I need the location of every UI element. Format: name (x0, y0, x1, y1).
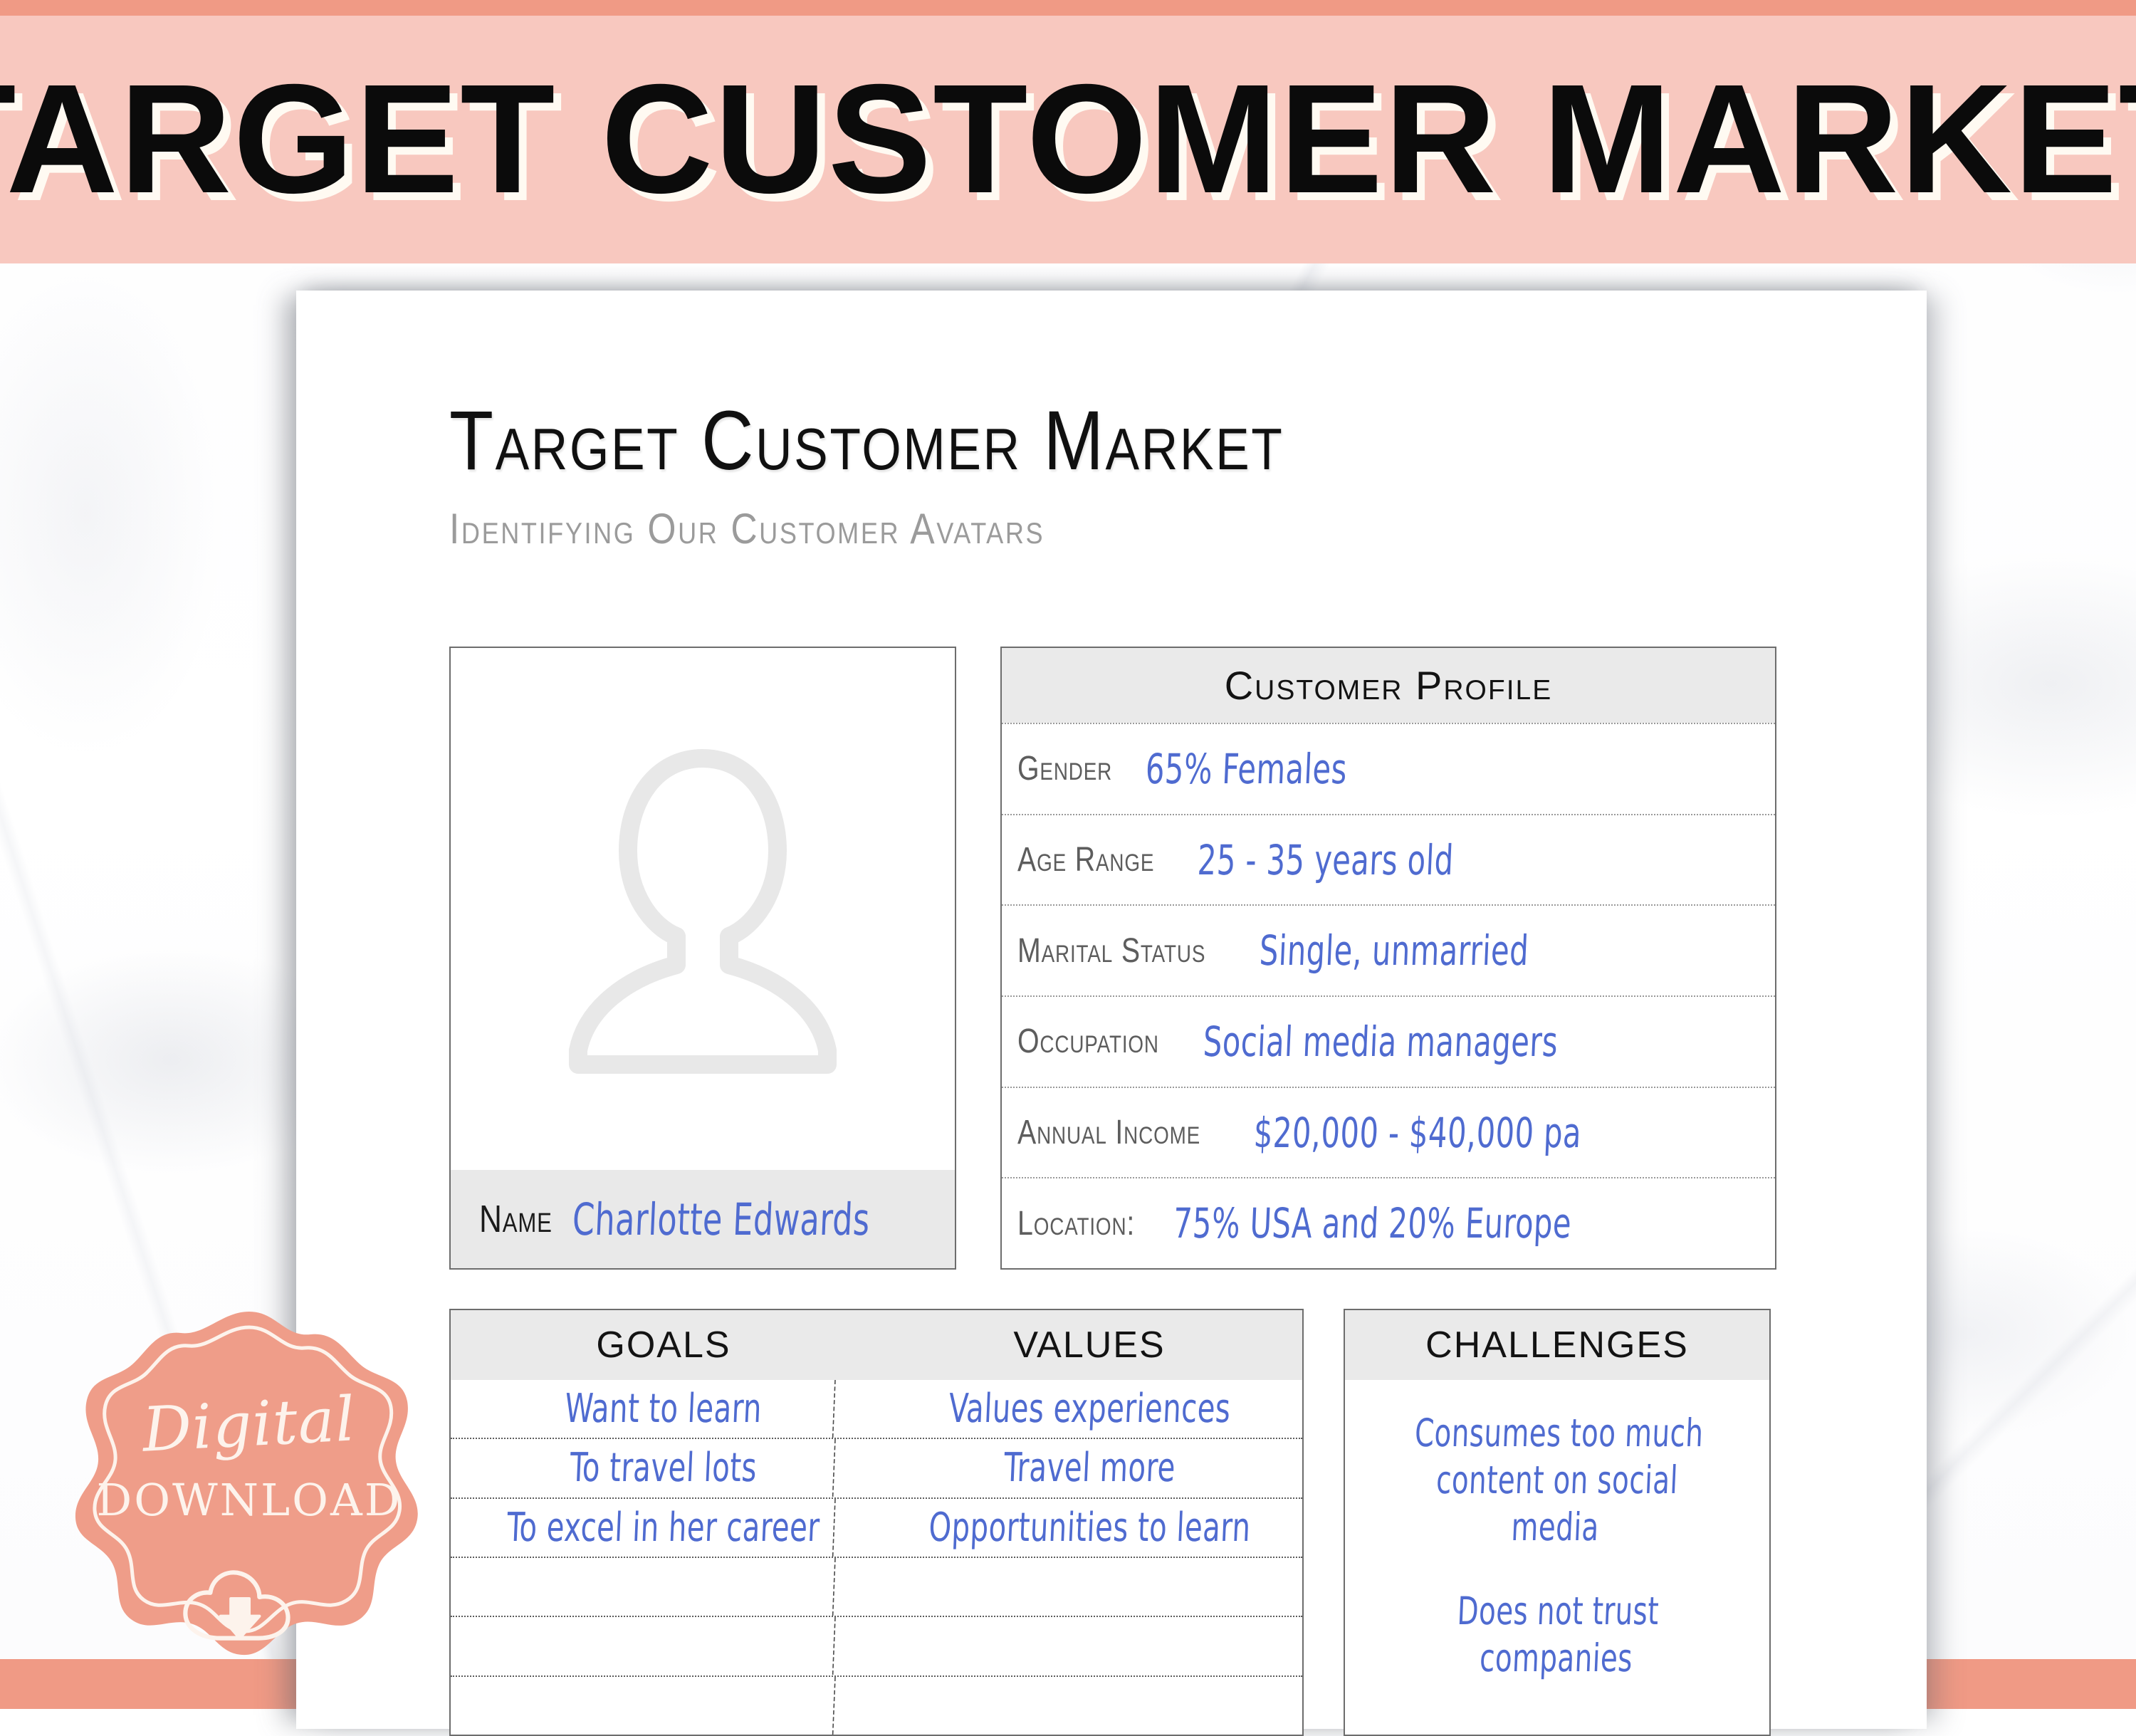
profile-section: Name Charlotte Edwards Customer Profile … (449, 647, 1776, 1270)
value-cell[interactable] (918, 1677, 1261, 1735)
profile-value-annual-income[interactable]: $20,000 - $40,000 pa (1252, 1109, 1582, 1157)
customer-profile-card: Customer Profile Gender 65% Females Age … (1000, 647, 1776, 1270)
profile-value-age-range[interactable]: 25 - 35 years old (1196, 836, 1454, 884)
goals-heading: GOALS (451, 1310, 876, 1380)
value-cell[interactable] (918, 1558, 1261, 1616)
table-row[interactable] (451, 1675, 1302, 1735)
page-subtitle: Identifying Our Customer Avatars (449, 504, 1598, 553)
top-accent-strip (0, 0, 2136, 16)
badge-word-text: DOWNLOAD (97, 1474, 402, 1526)
goal-cell[interactable] (492, 1558, 836, 1616)
goal-cell[interactable] (492, 1617, 836, 1675)
value-cell[interactable]: Opportunities to learn (918, 1499, 1261, 1557)
goals-values-card: GOALS VALUES Want to learn Values experi… (449, 1309, 1304, 1736)
person-silhouette-icon (451, 648, 955, 1171)
table-row[interactable]: Want to learn Values experiences (451, 1380, 1302, 1438)
name-field[interactable]: Name Charlotte Edwards (451, 1170, 955, 1268)
profile-row-age-range[interactable]: Age Range 25 - 35 years old (1002, 814, 1775, 905)
worksheet-page: Target Customer Market Identifying Our C… (296, 291, 1927, 1729)
table-row[interactable] (451, 1557, 1302, 1616)
goal-cell[interactable]: To travel lots (492, 1439, 836, 1497)
challenge-item[interactable]: Consumes too much content on social medi… (1399, 1410, 1714, 1551)
table-row[interactable]: To excel in her career Opportunities to … (451, 1497, 1302, 1557)
profile-row-occupation[interactable]: Occupation Social media managers (1002, 995, 1775, 1087)
goal-cell[interactable]: To excel in her career (492, 1499, 836, 1557)
page-heading-block: Target Customer Market Identifying Our C… (449, 397, 1784, 553)
value-cell[interactable]: Values experiences (918, 1380, 1261, 1438)
profile-value-occupation[interactable]: Social media managers (1202, 1018, 1559, 1066)
profile-label-location: Location: (1017, 1204, 1135, 1243)
profile-label-age-range: Age Range (1017, 840, 1154, 879)
profile-row-gender[interactable]: Gender 65% Females (1002, 723, 1775, 814)
challenges-heading: CHALLENGES (1345, 1310, 1769, 1380)
profile-row-annual-income[interactable]: Annual Income $20,000 - $40,000 pa (1002, 1087, 1775, 1178)
name-value[interactable]: Charlotte Edwards (572, 1193, 871, 1245)
banner-title: TARGET CUSTOMER MARKET (0, 62, 2136, 217)
challenge-item[interactable]: Does not trust companies (1401, 1588, 1714, 1682)
badge-script-text: Digital (141, 1389, 357, 1461)
page-title: Target Customer Market (449, 397, 1598, 486)
challenges-card: CHALLENGES Consumes too much content on … (1344, 1309, 1771, 1736)
avatar-card: Name Charlotte Edwards (449, 647, 956, 1270)
table-row[interactable]: To travel lots Travel more (451, 1438, 1302, 1497)
profile-label-gender: Gender (1017, 749, 1112, 788)
profile-label-annual-income: Annual Income (1017, 1113, 1200, 1152)
profile-label-marital-status: Marital Status (1017, 931, 1205, 971)
values-heading: VALUES (876, 1310, 1302, 1380)
profile-value-marital-status[interactable]: Single, unmarried (1259, 926, 1530, 975)
profile-value-gender[interactable]: 65% Females (1145, 745, 1349, 793)
goal-cell[interactable] (492, 1677, 836, 1735)
profile-value-location[interactable]: 75% USA and 20% Europe (1173, 1199, 1573, 1248)
table-row[interactable] (451, 1616, 1302, 1675)
goals-challenges-section: GOALS VALUES Want to learn Values experi… (449, 1309, 1771, 1736)
profile-row-marital-status[interactable]: Marital Status Single, unmarried (1002, 904, 1775, 995)
value-cell[interactable]: Travel more (918, 1439, 1261, 1497)
goals-values-header-row: GOALS VALUES (451, 1310, 1302, 1380)
header-banner: TARGET CUSTOMER MARKET (0, 16, 2136, 263)
profile-row-location[interactable]: Location: 75% USA and 20% Europe (1002, 1177, 1775, 1268)
digital-download-badge: Digital DOWNLOAD (71, 1309, 427, 1679)
value-cell[interactable] (918, 1617, 1261, 1675)
profile-label-occupation: Occupation (1017, 1022, 1159, 1061)
customer-profile-heading: Customer Profile (1002, 648, 1775, 723)
name-label: Name (479, 1197, 553, 1241)
goal-cell[interactable]: Want to learn (492, 1380, 836, 1438)
